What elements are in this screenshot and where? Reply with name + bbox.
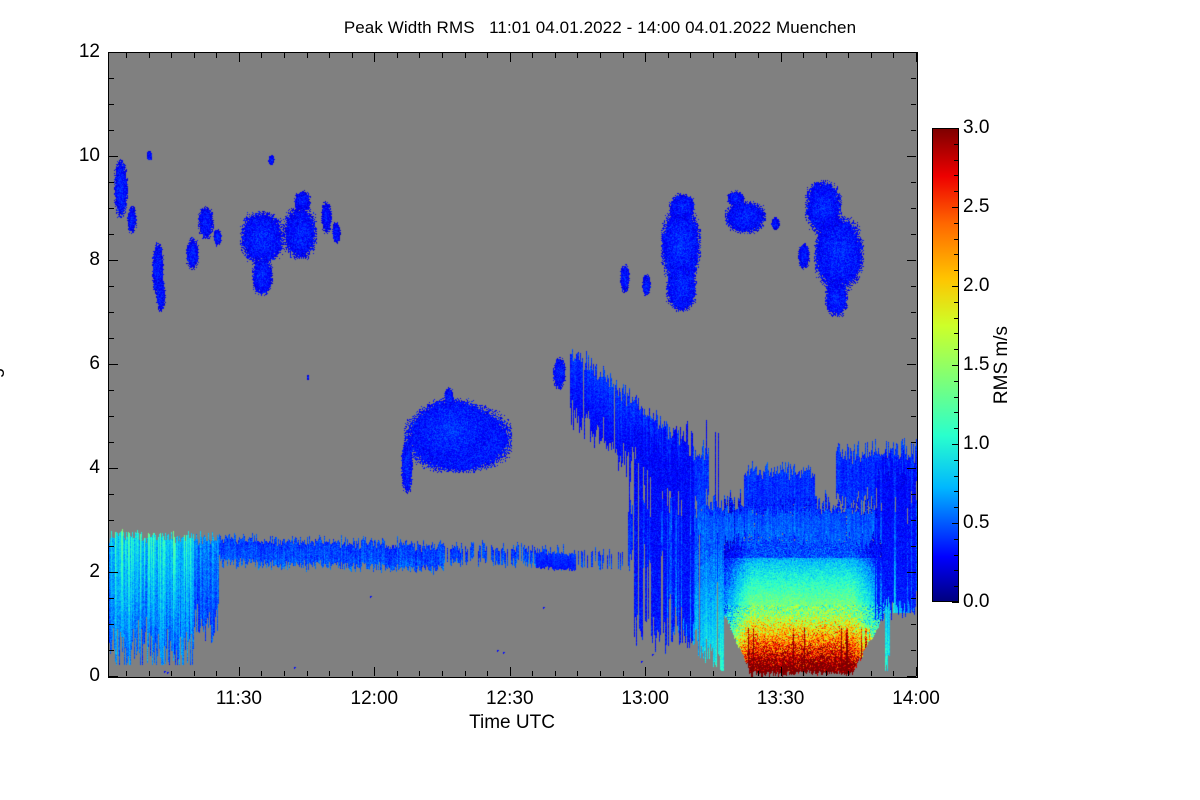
colorbar-tick-major xyxy=(952,128,959,129)
x-tick-minor-top xyxy=(871,53,872,58)
y-tick-label: 4 xyxy=(89,457,100,479)
y-tick-major xyxy=(109,156,118,157)
y-tick-minor-right xyxy=(911,650,916,651)
colorbar-tick-minor xyxy=(954,381,959,382)
y-tick-minor-right xyxy=(911,286,916,287)
x-tick-minor xyxy=(735,671,736,676)
colorbar-tick-minor xyxy=(954,349,959,350)
y-tick-minor xyxy=(109,208,114,209)
x-tick-minor-top xyxy=(690,53,691,58)
x-tick-minor-top xyxy=(713,53,714,58)
y-tick-minor xyxy=(109,416,114,417)
colorbar-tick-minor xyxy=(954,160,959,161)
colorbar-tick-minor xyxy=(954,397,959,398)
x-tick-major xyxy=(781,667,782,676)
x-tick-minor xyxy=(871,671,872,676)
x-tick-minor xyxy=(397,671,398,676)
x-tick-minor xyxy=(623,671,624,676)
y-tick-minor-right xyxy=(911,494,916,495)
y-tick-minor-right xyxy=(911,416,916,417)
colorbar-tick-minor xyxy=(954,191,959,192)
x-tick-minor-top xyxy=(149,53,150,58)
x-tick-label: 13:00 xyxy=(621,688,669,710)
colorbar-tick-minor xyxy=(954,270,959,271)
x-tick-minor xyxy=(690,671,691,676)
x-tick-major-top xyxy=(374,53,375,62)
colorbar-tick-label: 2.5 xyxy=(963,196,989,218)
x-tick-minor-top xyxy=(261,53,262,58)
colorbar-tick-label: 0.5 xyxy=(963,512,989,534)
y-tick-minor xyxy=(109,130,114,131)
y-tick-minor-right xyxy=(911,130,916,131)
x-tick-minor-top xyxy=(893,53,894,58)
y-tick-major xyxy=(109,572,118,573)
x-tick-minor xyxy=(352,671,353,676)
y-tick-minor-right xyxy=(911,390,916,391)
x-tick-major-top xyxy=(510,53,511,62)
colorbar-tick-major xyxy=(952,365,959,366)
x-tick-minor-top xyxy=(803,53,804,58)
x-tick-minor-top xyxy=(577,53,578,58)
colorbar-tick-major xyxy=(952,602,959,603)
y-tick-minor-right xyxy=(911,234,916,235)
colorbar-tick-minor xyxy=(954,302,959,303)
colorbar-tick-label: 3.0 xyxy=(963,117,989,139)
x-tick-minor xyxy=(577,671,578,676)
y-tick-label: 2 xyxy=(89,561,100,583)
y-tick-label: 10 xyxy=(79,145,100,167)
y-tick-label: 12 xyxy=(79,41,100,63)
y-tick-label: 6 xyxy=(89,353,100,375)
colorbar-tick-label: 1.5 xyxy=(963,354,989,376)
x-tick-minor-top xyxy=(171,53,172,58)
x-tick-minor xyxy=(600,671,601,676)
x-tick-minor-top xyxy=(487,53,488,58)
y-tick-major-right xyxy=(907,676,916,677)
x-tick-minor xyxy=(487,671,488,676)
y-axis-tick-labels: 024681012 xyxy=(20,0,100,800)
x-tick-major xyxy=(645,667,646,676)
x-tick-minor-top xyxy=(352,53,353,58)
colorbar-tick-minor xyxy=(954,175,959,176)
x-tick-minor-top xyxy=(284,53,285,58)
y-tick-minor-right xyxy=(911,546,916,547)
chart-title: Peak Width RMS 11:01 04.01.2022 - 14:00 … xyxy=(0,18,1200,38)
x-tick-minor xyxy=(668,671,669,676)
colorbar-tick-label: 2.0 xyxy=(963,275,989,297)
x-tick-minor xyxy=(532,671,533,676)
y-tick-major-right xyxy=(907,364,916,365)
x-tick-major-top xyxy=(645,53,646,62)
colorbar-tick-minor xyxy=(954,412,959,413)
x-tick-minor-top xyxy=(442,53,443,58)
colorbar-title: RMS m/s xyxy=(991,265,1013,465)
y-tick-major-right xyxy=(907,260,916,261)
y-tick-minor xyxy=(109,104,114,105)
x-tick-minor xyxy=(555,671,556,676)
x-tick-minor-top xyxy=(623,53,624,58)
colorbar-tick-minor xyxy=(954,460,959,461)
x-tick-minor xyxy=(419,671,420,676)
colorbar-tick-label: 0.0 xyxy=(963,591,989,613)
x-tick-minor xyxy=(126,671,127,676)
x-tick-major-top xyxy=(239,53,240,62)
y-tick-major-right xyxy=(907,156,916,157)
x-tick-minor-top xyxy=(668,53,669,58)
x-tick-minor xyxy=(713,671,714,676)
x-tick-minor xyxy=(194,671,195,676)
x-tick-label: 12:00 xyxy=(351,688,399,710)
y-tick-minor xyxy=(109,650,114,651)
x-tick-minor-top xyxy=(848,53,849,58)
x-tick-minor-top xyxy=(735,53,736,58)
y-tick-minor-right xyxy=(911,442,916,443)
y-tick-minor xyxy=(109,182,114,183)
x-tick-minor xyxy=(329,671,330,676)
x-tick-minor-top xyxy=(419,53,420,58)
x-tick-minor xyxy=(893,671,894,676)
y-tick-minor-right xyxy=(911,78,916,79)
y-tick-major-right xyxy=(907,572,916,573)
colorbar-tick-minor xyxy=(954,428,959,429)
x-tick-label: 14:00 xyxy=(892,688,940,710)
x-tick-minor-top xyxy=(532,53,533,58)
colorbar-tick-minor xyxy=(954,507,959,508)
y-tick-minor xyxy=(109,546,114,547)
y-tick-minor xyxy=(109,520,114,521)
y-tick-minor-right xyxy=(911,598,916,599)
x-tick-minor-top xyxy=(397,53,398,58)
y-tick-minor xyxy=(109,442,114,443)
x-tick-major-top xyxy=(781,53,782,62)
y-tick-label: 8 xyxy=(89,249,100,271)
x-tick-major xyxy=(239,667,240,676)
colorbar-tick-minor xyxy=(954,491,959,492)
x-tick-minor-top xyxy=(194,53,195,58)
x-tick-label: 13:30 xyxy=(757,688,805,710)
colorbar-tick-minor xyxy=(954,333,959,334)
y-tick-major xyxy=(109,364,118,365)
y-tick-minor-right xyxy=(911,104,916,105)
colorbar-tick-minor xyxy=(954,570,959,571)
colorbar-tick-minor xyxy=(954,586,959,587)
colorbar-tick-major xyxy=(952,523,959,524)
colorbar-tick-major xyxy=(952,286,959,287)
figure-canvas: Peak Width RMS 11:01 04.01.2022 - 14:00 … xyxy=(0,0,1200,800)
y-tick-major xyxy=(109,468,118,469)
colorbar-tick-minor xyxy=(954,239,959,240)
x-tick-minor-top xyxy=(329,53,330,58)
x-axis-title: Time UTC xyxy=(108,712,916,734)
colorbar-tick-minor xyxy=(954,444,959,445)
colorbar-tick-minor xyxy=(954,539,959,540)
y-tick-major-right xyxy=(907,468,916,469)
x-tick-minor xyxy=(465,671,466,676)
y-tick-minor xyxy=(109,78,114,79)
y-tick-minor-right xyxy=(911,624,916,625)
x-tick-minor xyxy=(284,671,285,676)
y-tick-minor xyxy=(109,286,114,287)
y-tick-minor xyxy=(109,598,114,599)
x-tick-label: 11:30 xyxy=(216,688,262,710)
y-tick-minor-right xyxy=(911,520,916,521)
colorbar-tick-minor xyxy=(954,144,959,145)
heatmap-canvas xyxy=(109,53,917,677)
x-tick-minor xyxy=(803,671,804,676)
y-tick-minor-right xyxy=(911,208,916,209)
x-tick-minor-top xyxy=(600,53,601,58)
x-tick-minor xyxy=(307,671,308,676)
colorbar-tick-minor xyxy=(954,254,959,255)
x-tick-minor xyxy=(171,671,172,676)
x-tick-major xyxy=(510,667,511,676)
y-axis-title: Height km xyxy=(0,264,6,464)
x-tick-minor-top xyxy=(216,53,217,58)
x-tick-minor xyxy=(826,671,827,676)
x-tick-major-top xyxy=(916,53,917,62)
y-tick-label: 0 xyxy=(89,665,100,687)
y-tick-major xyxy=(109,676,118,677)
x-tick-minor-top xyxy=(465,53,466,58)
colorbar-tick-minor xyxy=(954,223,959,224)
colorbar xyxy=(932,128,959,602)
x-tick-major xyxy=(374,667,375,676)
x-tick-minor-top xyxy=(126,53,127,58)
x-tick-minor xyxy=(758,671,759,676)
x-tick-minor xyxy=(216,671,217,676)
y-tick-minor-right xyxy=(911,312,916,313)
plot-area xyxy=(108,52,918,678)
y-tick-minor xyxy=(109,312,114,313)
y-tick-minor xyxy=(109,624,114,625)
x-tick-major xyxy=(916,667,917,676)
x-tick-minor-top xyxy=(555,53,556,58)
y-tick-minor xyxy=(109,234,114,235)
colorbar-tick-major xyxy=(952,207,959,208)
x-tick-minor xyxy=(442,671,443,676)
colorbar-ticks xyxy=(932,128,959,602)
colorbar-tick-minor xyxy=(954,476,959,477)
y-tick-minor xyxy=(109,338,114,339)
y-tick-minor xyxy=(109,494,114,495)
y-tick-minor-right xyxy=(911,338,916,339)
y-tick-major xyxy=(109,52,118,53)
x-tick-minor-top xyxy=(758,53,759,58)
x-tick-minor xyxy=(261,671,262,676)
y-tick-minor-right xyxy=(911,182,916,183)
colorbar-tick-minor xyxy=(954,318,959,319)
y-tick-minor xyxy=(109,390,114,391)
x-tick-minor-top xyxy=(826,53,827,58)
colorbar-tick-label: 1.0 xyxy=(963,433,989,455)
colorbar-tick-minor xyxy=(954,555,959,556)
x-tick-minor xyxy=(149,671,150,676)
x-tick-minor-top xyxy=(307,53,308,58)
x-tick-label: 12:30 xyxy=(486,688,534,710)
y-tick-major-right xyxy=(907,52,916,53)
x-tick-minor xyxy=(848,671,849,676)
y-tick-major xyxy=(109,260,118,261)
